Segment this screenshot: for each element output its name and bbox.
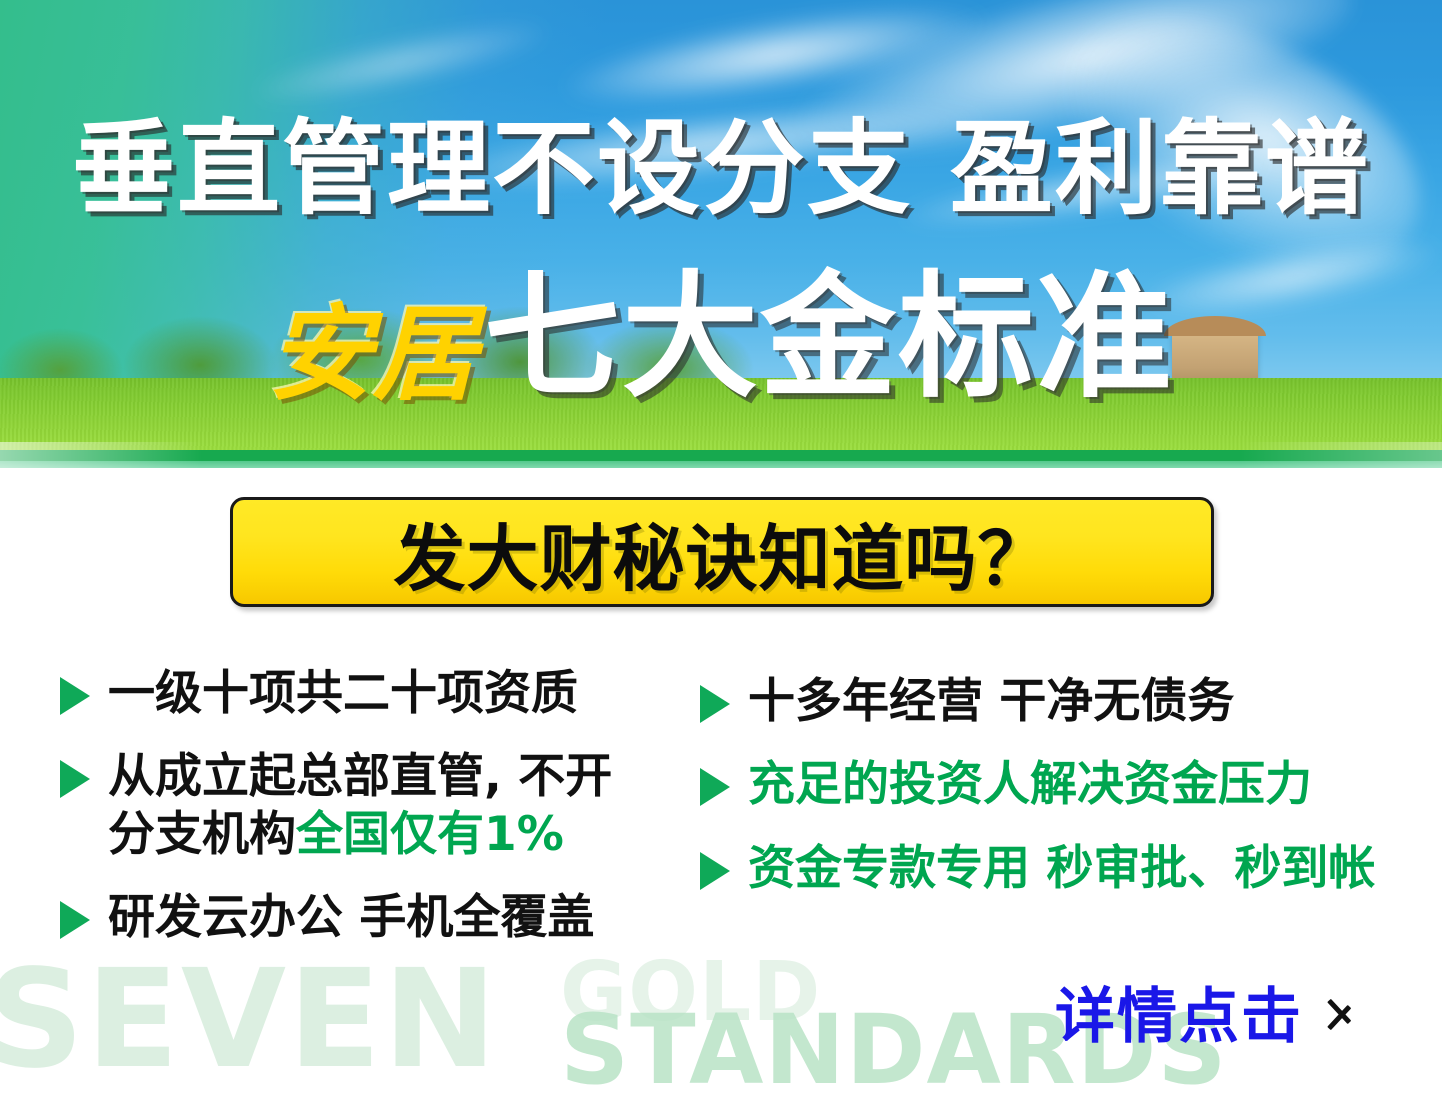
triangle-bullet-icon xyxy=(60,901,90,939)
feature-list: 一级十项共二十项资质从成立起总部直管, 不开分支机构全国仅有1%研发云办公 手机… xyxy=(0,665,1442,985)
feature-item: 资金专款专用 秒审批、秒到帐 xyxy=(700,840,1420,897)
feature-item-line: 一级十项共二十项资质 xyxy=(108,665,578,722)
hero-headline-secondary: 安居七大金标准 xyxy=(0,270,1442,406)
feature-item: 一级十项共二十项资质 xyxy=(60,665,690,722)
hero-bottom-band xyxy=(0,450,1442,468)
feature-item-text: 一级十项共二十项资质 xyxy=(108,665,578,722)
triangle-bullet-icon xyxy=(60,677,90,715)
feature-item-text: 研发云办公 手机全覆盖 xyxy=(108,889,594,946)
triangle-bullet-icon xyxy=(700,768,730,806)
feature-text-segment: 研发云办公 手机全覆盖 xyxy=(108,890,594,945)
feature-item-text: 充足的投资人解决资金压力 xyxy=(748,756,1312,813)
feature-item-line: 研发云办公 手机全覆盖 xyxy=(108,889,594,946)
feature-item-line: 从成立起总部直管, 不开 xyxy=(108,748,612,805)
feature-text-segment: 从成立起总部直管, 不开 xyxy=(108,749,612,804)
feature-item-line: 分支机构全国仅有1% xyxy=(108,806,612,863)
feature-text-segment: 全国仅有1% xyxy=(296,807,564,862)
details-cta-label: 详情点击 xyxy=(1055,968,1303,1055)
feature-item-text: 从成立起总部直管, 不开分支机构全国仅有1% xyxy=(108,748,612,863)
hero-headline-slogan: 七大金标准 xyxy=(484,259,1174,417)
feature-item: 十多年经营 干净无债务 xyxy=(700,673,1420,730)
feature-item-text: 十多年经营 干净无债务 xyxy=(748,673,1234,730)
feature-text-segment: 一级十项共二十项资质 xyxy=(108,666,578,721)
feature-item-text: 资金专款专用 秒审批、秒到帐 xyxy=(748,840,1375,897)
feature-text-segment: 资金专款专用 秒审批、秒到帐 xyxy=(748,841,1375,896)
triangle-bullet-icon xyxy=(700,685,730,723)
feature-item-line: 十多年经营 干净无债务 xyxy=(748,673,1234,730)
feature-item: 研发云办公 手机全覆盖 xyxy=(60,889,690,946)
hero-banner: 垂直管理不设分支 盈利靠谱 安居七大金标准 xyxy=(0,0,1442,468)
highlight-banner-text: 发大财秘诀知道吗？ xyxy=(393,500,1050,605)
hero-headline-brand: 安居 xyxy=(268,293,478,415)
triangle-bullet-icon xyxy=(60,760,90,798)
feature-item: 从成立起总部直管, 不开分支机构全国仅有1% xyxy=(60,748,690,863)
feature-item-line: 资金专款专用 秒审批、秒到帐 xyxy=(748,840,1375,897)
details-cta[interactable]: 详情点击 xyxy=(1055,968,1359,1055)
feature-column-left: 一级十项共二十项资质从成立起总部直管, 不开分支机构全国仅有1%研发云办公 手机… xyxy=(60,665,690,972)
feature-text-segment: 分支机构 xyxy=(108,807,296,862)
feature-column-right: 十多年经营 干净无债务充足的投资人解决资金压力资金专款专用 秒审批、秒到帐 xyxy=(700,673,1420,923)
feature-item: 充足的投资人解决资金压力 xyxy=(700,756,1420,813)
chevron-right-icon xyxy=(1325,986,1359,1038)
feature-text-segment: 十多年经营 干净无债务 xyxy=(748,674,1234,729)
triangle-bullet-icon xyxy=(700,852,730,890)
highlight-banner[interactable]: 发大财秘诀知道吗？ xyxy=(230,497,1214,607)
feature-item-line: 充足的投资人解决资金压力 xyxy=(748,756,1312,813)
feature-text-segment: 充足的投资人解决资金压力 xyxy=(748,757,1312,812)
hero-headline-primary: 垂直管理不设分支 盈利靠谱 xyxy=(0,118,1442,221)
